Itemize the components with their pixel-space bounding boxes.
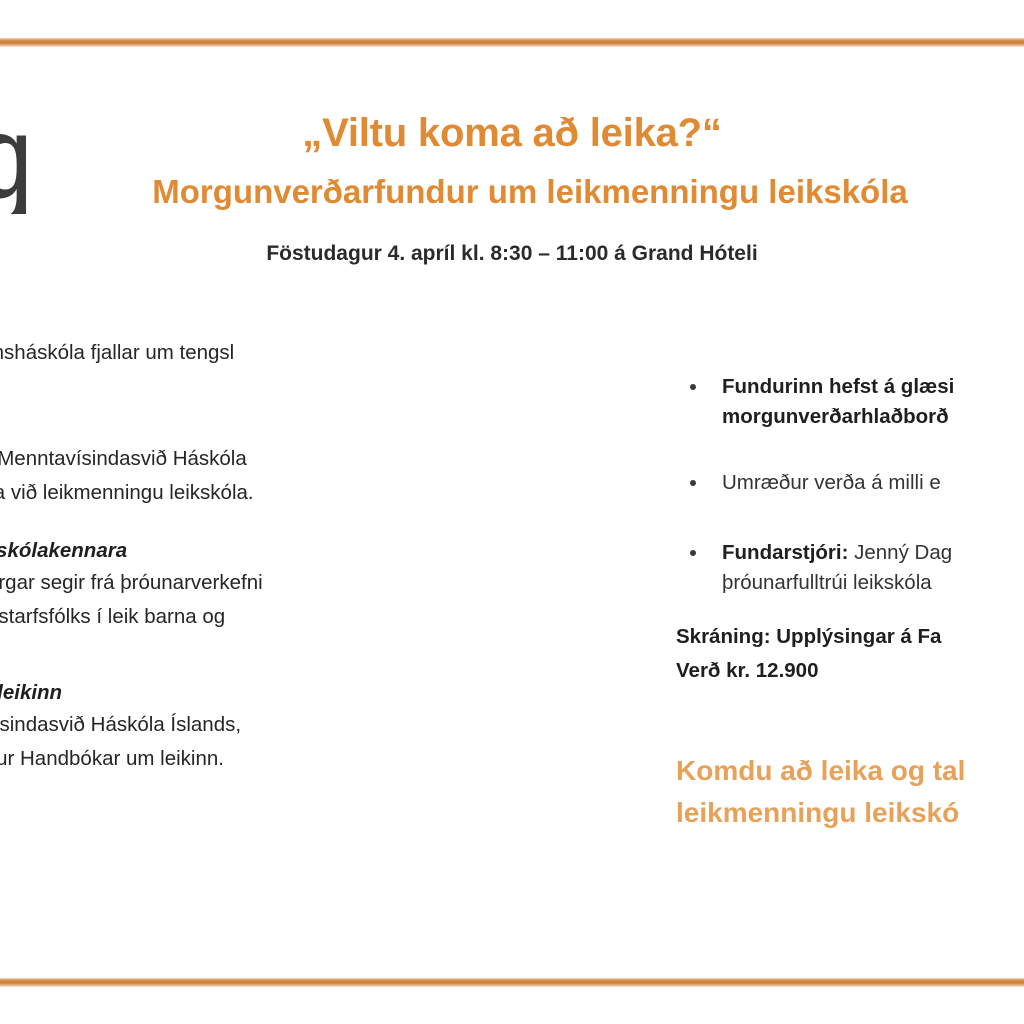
left-content-column: lfbærni sent við Stokkhólmsháskóla fjall…	[0, 306, 572, 802]
right-content-column: Fundurinn hefst á glæsi morgunverðarhlað…	[676, 372, 1024, 834]
bullet-text: Jenný Dag	[848, 541, 952, 564]
agenda-section: lfbærni sent við Stokkhólmsháskóla fjall…	[0, 306, 572, 404]
page-title: „Viltu koma að leika?“	[0, 108, 1024, 158]
header-block: „Viltu koma að leika?“ Morgunverðarfundu…	[0, 108, 1024, 266]
list-item: Fundarstjóri: Jenný Dag þróunarfulltrúi …	[676, 538, 1024, 598]
agenda-section-line: sent við Stokkhólmsháskóla fjallar um te…	[0, 336, 572, 370]
agenda-section-heading: við Handbók um leikinn	[0, 678, 572, 708]
bullet-dot-icon	[690, 384, 696, 390]
bullet-text: Umræður verða á milli e	[722, 471, 941, 494]
bullet-dot-icon	[690, 480, 696, 486]
list-item: Umræður verða á milli e	[676, 468, 1024, 498]
agenda-section-heading: nar barna og leikskólakennara	[0, 536, 572, 566]
registration-block: Skráning: Upplýsingar á Fa Verð kr. 12.9…	[676, 620, 1024, 688]
agenda-section-line: ning leikskólastjóra við leikmenningu le…	[0, 476, 572, 510]
bullet-text-strong-line2: morgunverðarhlaðborð	[722, 405, 949, 428]
closing-line-2: leikmenningu leikskó	[676, 792, 1024, 834]
event-datetime: Föstudagur 4. apríl kl. 8:30 – 11:00 á G…	[0, 242, 1024, 266]
agenda-section-line: lfbærni.	[0, 370, 572, 404]
registration-price: Verð kr. 12.900	[676, 654, 1024, 688]
top-divider-rule	[0, 38, 1024, 47]
bullet-text-line2: þróunarfulltrúi leikskóla	[722, 571, 932, 594]
agenda-section: nsdóttir, lektor við Menntavísindasvið H…	[0, 442, 572, 510]
agenda-section-line: ennara og annars starfsfólks í leik barn…	[0, 600, 572, 634]
poster-canvas: g „Viltu koma að leika?“ Morgunverðarfun…	[0, 0, 1024, 1024]
page-subtitle: Morgunverðarfundur um leikmenningu leiks…	[18, 170, 1024, 214]
agenda-section: við Handbók um leikinn ektor við Menntav…	[0, 678, 572, 776]
agenda-section: nar barna og leikskólakennara skólastjór…	[0, 536, 572, 634]
agenda-section-line: nsdóttir, lektor við Menntavísindasvið H…	[0, 442, 572, 476]
bullet-text-strong: Fundarstjóri:	[722, 541, 848, 564]
agenda-section-line: ektor við Menntavísindasvið Háskóla Ísla…	[0, 708, 572, 742]
agenda-section-line: s við helstu áherslur Handbókar um leiki…	[0, 742, 572, 776]
agenda-section-heading: lfbærni	[0, 306, 572, 336]
closing-line-1: Komdu að leika og tal	[676, 750, 1024, 792]
bullet-dot-icon	[690, 550, 696, 556]
agenda-section-line: skólastjóri Ægisborgar segir frá þróunar…	[0, 566, 572, 600]
bottom-divider-rule	[0, 978, 1024, 987]
info-bullet-list: Fundurinn hefst á glæsi morgunverðarhlað…	[676, 372, 1024, 598]
list-item: Fundurinn hefst á glæsi morgunverðarhlað…	[676, 372, 1024, 432]
bullet-text-strong: Fundurinn hefst á glæsi	[722, 375, 954, 398]
closing-call-to-action: Komdu að leika og tal leikmenningu leiks…	[676, 750, 1024, 834]
registration-info: Skráning: Upplýsingar á Fa	[676, 620, 1024, 654]
